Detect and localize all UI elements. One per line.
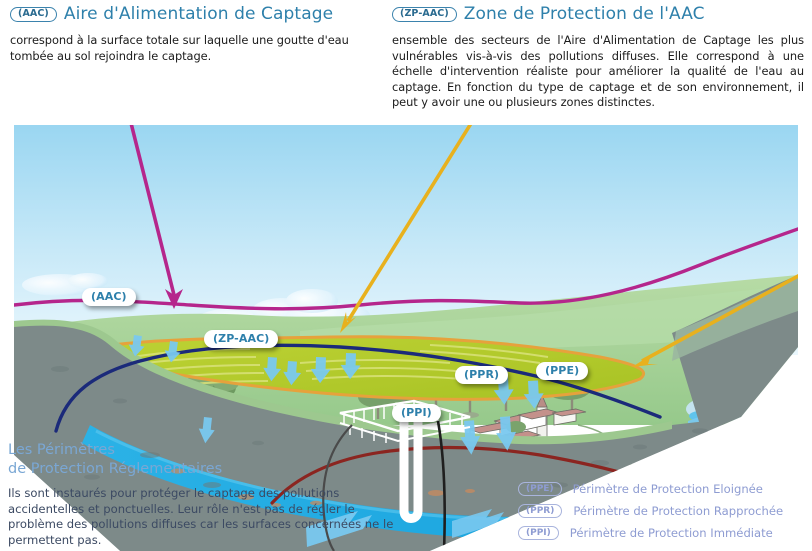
legend-label-ppi: Périmètre de Protection Immédiate	[570, 526, 773, 540]
perimetres-title: Les Périmètres de Protection Réglementai…	[8, 441, 403, 479]
map-pill-zpaac[interactable]: (ZP-AAC)	[204, 330, 278, 348]
header-body-aac: correspond à la surface totale sur laque…	[10, 33, 380, 64]
legend-badge-ppe: (PPE)	[518, 482, 562, 496]
map-pill-ppe[interactable]: (PPE)	[536, 362, 588, 380]
header-title-aac: Aire d'Alimentation de Captage	[64, 4, 333, 24]
legend-row-ppr[interactable]: (PPR) Périmètre de Protection Rapprochée	[518, 500, 783, 522]
header-body-zpaac: ensemble des secteurs de l'Aire d'Alimen…	[392, 33, 804, 111]
badge-zpaac: (ZP-AAC)	[392, 7, 457, 22]
badge-aac: (AAC)	[10, 7, 57, 22]
legend-badge-ppr: (PPR)	[518, 504, 562, 518]
perimetres-title-line1: Les Périmètres	[8, 441, 403, 460]
perimetres-title-line2: de Protection Réglementaires	[8, 460, 403, 479]
header-title-row-aac: (AAC) Aire d'Alimentation de Captage	[10, 4, 380, 24]
legend-label-ppr: Périmètre de Protection Rapprochée	[573, 504, 783, 518]
header-title-zpaac: Zone de Protection de l'AAC	[464, 4, 705, 24]
perimetres-block: Les Périmètres de Protection Réglementai…	[8, 441, 403, 548]
legend-row-ppi[interactable]: (PPI) Périmètre de Protection Immédiate	[518, 522, 783, 544]
perimetres-body: Ils sont instaurés pour protéger le capt…	[8, 486, 403, 548]
infographic-page: (AAC) Aire d'Alimentation de Captage cor…	[0, 0, 812, 551]
legend: (PPE) Périmètre de Protection Eloignée (…	[518, 478, 783, 544]
map-pill-ppr[interactable]: (PPR)	[455, 366, 508, 384]
map-pill-ppi[interactable]: (PPI)	[392, 404, 441, 422]
legend-row-ppe[interactable]: (PPE) Périmètre de Protection Eloignée	[518, 478, 783, 500]
header-title-row-zpaac: (ZP-AAC) Zone de Protection de l'AAC	[392, 4, 804, 24]
legend-badge-ppi: (PPI)	[518, 526, 559, 540]
header-block-aac: (AAC) Aire d'Alimentation de Captage cor…	[10, 4, 380, 64]
map-pill-aac[interactable]: (AAC)	[82, 288, 136, 306]
legend-label-ppe: Périmètre de Protection Eloignée	[573, 482, 763, 496]
header-block-zpaac: (ZP-AAC) Zone de Protection de l'AAC ens…	[392, 4, 804, 111]
